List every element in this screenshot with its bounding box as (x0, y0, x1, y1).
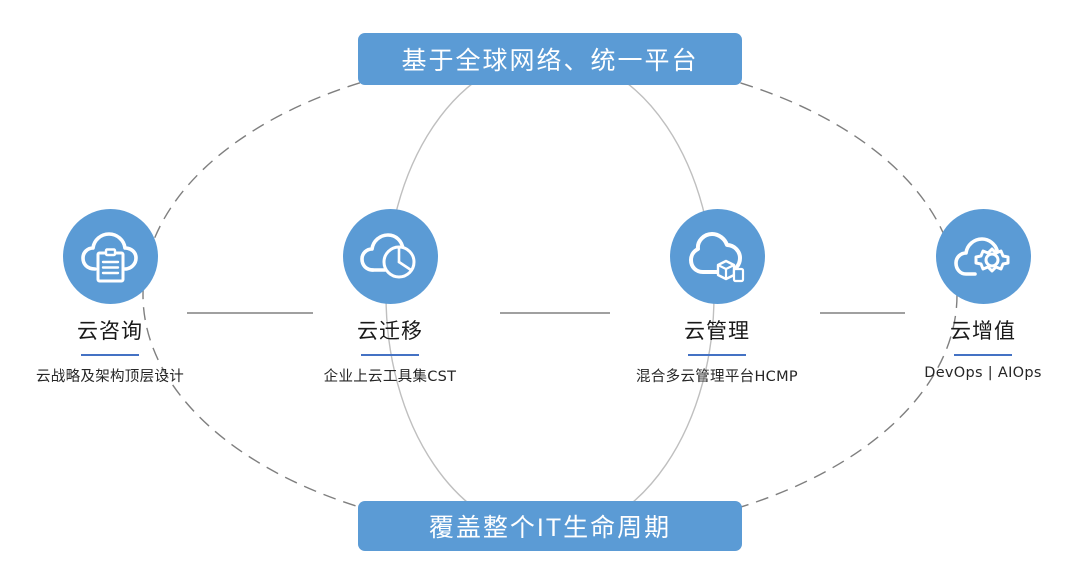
cloud-gear-icon (952, 229, 1014, 285)
node-subtitle-cloud-migration: 企业上云工具集CST (280, 365, 500, 386)
node-subtitle-cloud-value-add: DevOps | AIOps (873, 365, 1080, 381)
node-circle-cloud-management[interactable] (670, 209, 765, 304)
cloud-clipboard-icon (79, 229, 141, 285)
node-circle-cloud-consulting[interactable] (63, 209, 158, 304)
top-banner: 基于全球网络、统一平台 (358, 33, 742, 85)
node-title-cloud-migration: 云迁移 (280, 315, 500, 345)
node-subtitle-cloud-consulting: 云战略及架构顶层设计 (0, 365, 220, 386)
node-title-cloud-value-add: 云增值 (873, 315, 1080, 345)
node-title-cloud-management: 云管理 (607, 315, 827, 345)
node-rule-cloud-management (688, 354, 746, 356)
node-cloud-migration[interactable]: 云迁移 企业上云工具集CST (280, 209, 500, 386)
node-cloud-consulting[interactable]: 云咨询 云战略及架构顶层设计 (0, 209, 220, 386)
node-rule-cloud-consulting (81, 354, 139, 356)
node-subtitle-cloud-management: 混合多云管理平台HCMP (607, 365, 827, 386)
cloud-piechart-icon (359, 229, 421, 285)
node-title-cloud-consulting: 云咨询 (0, 315, 220, 345)
node-circle-cloud-value-add[interactable] (936, 209, 1031, 304)
cloud-cube-icon (686, 229, 748, 285)
node-rule-cloud-value-add (954, 354, 1012, 356)
node-cloud-value-add[interactable]: 云增值 DevOps | AIOps (873, 209, 1080, 381)
bottom-banner-label: 覆盖整个IT生命周期 (429, 508, 671, 544)
outer-ellipse (143, 55, 957, 535)
node-cloud-management[interactable]: 云管理 混合多云管理平台HCMP (607, 209, 827, 386)
node-circle-cloud-migration[interactable] (343, 209, 438, 304)
top-banner-label: 基于全球网络、统一平台 (401, 41, 698, 77)
diagram-canvas: 基于全球网络、统一平台 云咨询 云战略及架构顶层设计 (0, 0, 1080, 575)
node-rule-cloud-migration (361, 354, 419, 356)
bottom-banner: 覆盖整个IT生命周期 (358, 501, 742, 551)
